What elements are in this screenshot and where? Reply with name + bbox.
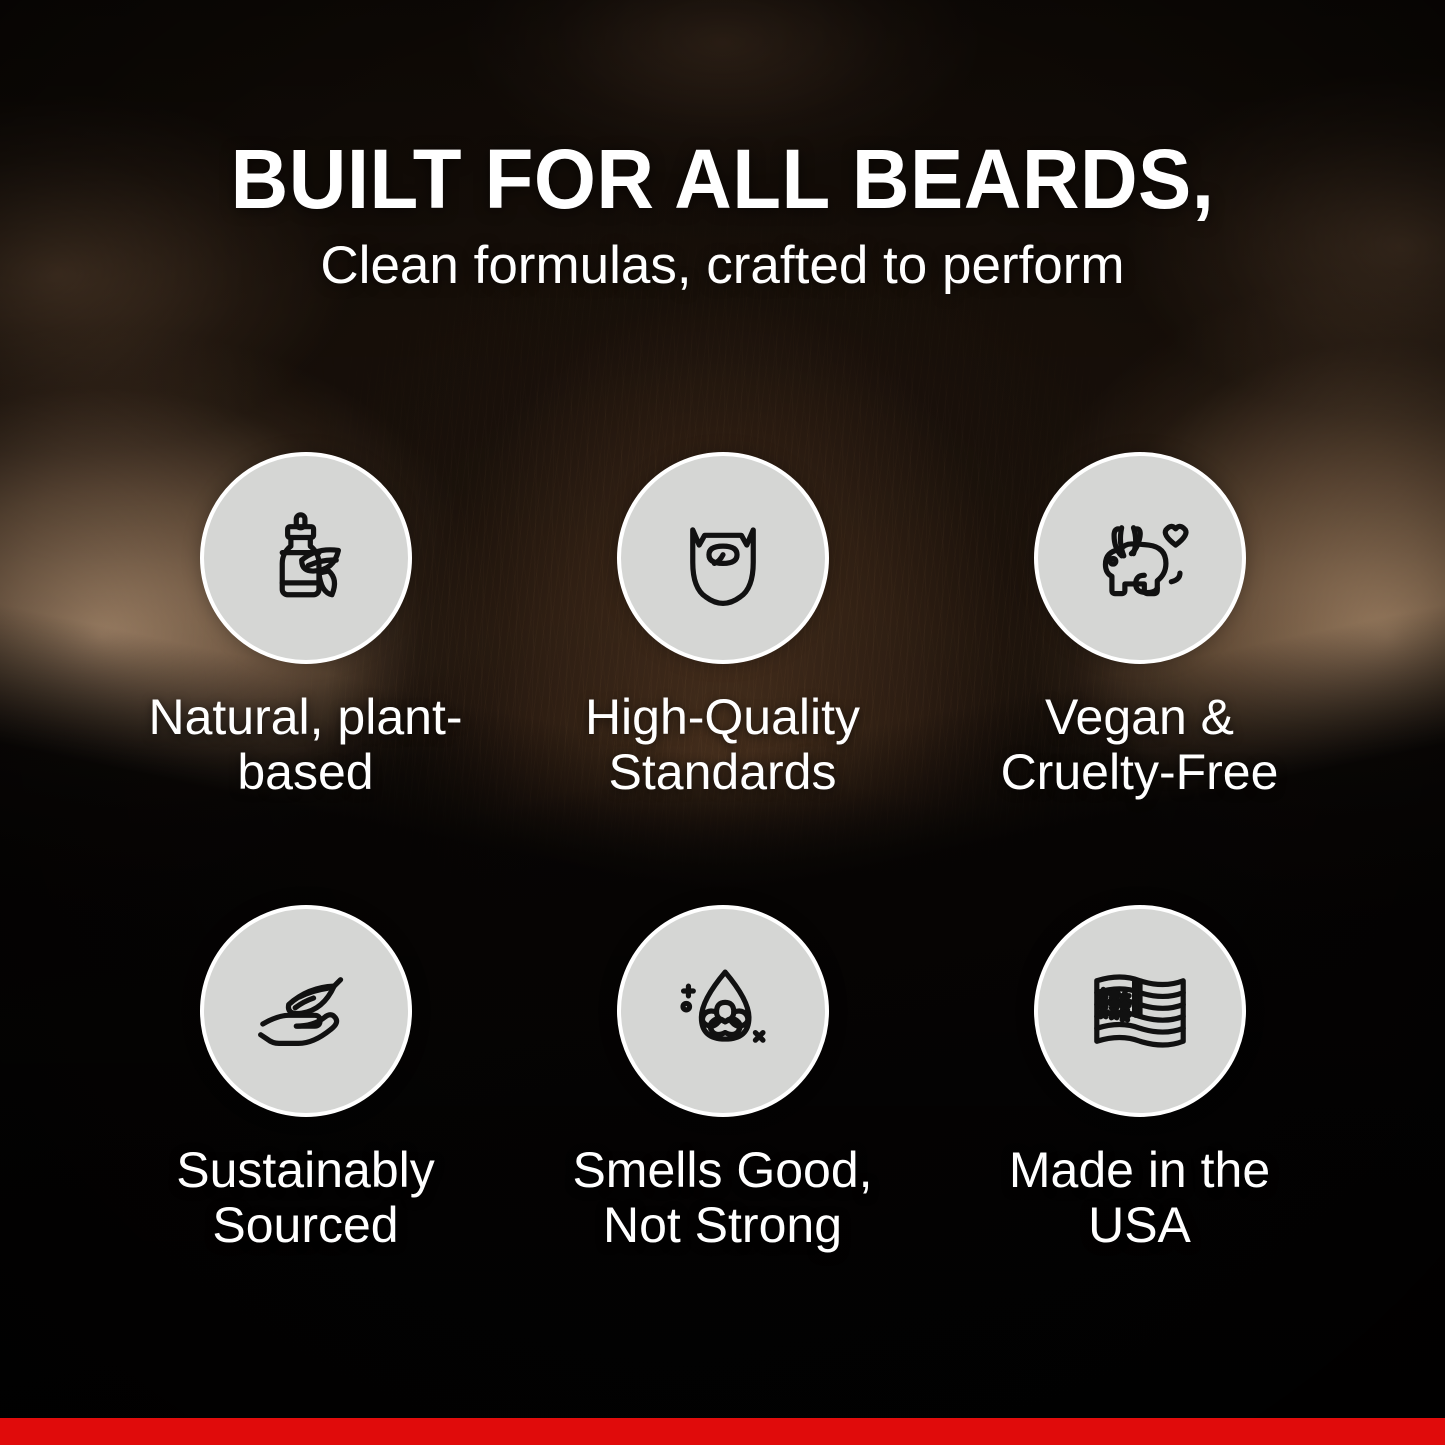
feature-item-high-quality-standards: High-Quality Standards [514, 452, 931, 800]
feature-item-sustainably-sourced: Sustainably Sourced [97, 905, 514, 1253]
feature-item-smells-good-not-strong: Smells Good, Not Strong [514, 905, 931, 1253]
feature-badge [1034, 905, 1246, 1117]
feature-item-natural-plant-based: Natural, plant-based [97, 452, 514, 800]
droplet-flower-sparkle-icon [669, 957, 777, 1065]
feature-badge [617, 905, 829, 1117]
feature-badge [1034, 452, 1246, 664]
hand-holding-leaf-icon [252, 957, 360, 1065]
dropper-bottle-leaf-icon [252, 504, 360, 612]
feature-label: Vegan & Cruelty-Free [975, 690, 1305, 800]
feature-label: Natural, plant-based [141, 690, 471, 800]
promo-infographic: BUILT FOR ALL BEARDS, Clean formulas, cr… [0, 0, 1445, 1445]
feature-item-vegan-cruelty-free: Vegan & Cruelty-Free [931, 452, 1348, 800]
feature-item-made-in-the-usa: Made in the USA [931, 905, 1348, 1253]
feature-label: Sustainably Sourced [141, 1143, 471, 1253]
feature-label: Smells Good, Not Strong [558, 1143, 888, 1253]
usa-flag-icon [1086, 957, 1194, 1065]
rabbit-heart-icon [1086, 504, 1194, 612]
feature-badge [617, 452, 829, 664]
feature-badge [200, 452, 412, 664]
feature-label: Made in the USA [975, 1143, 1305, 1253]
bottom-accent-bar [0, 1418, 1445, 1445]
page-subtitle: Clean formulas, crafted to perform [0, 238, 1445, 294]
beard-icon [669, 504, 777, 612]
feature-label: High-Quality Standards [558, 690, 888, 800]
feature-grid: Natural, plant-based High-Quality Standa… [97, 452, 1348, 1253]
page-title: BUILT FOR ALL BEARDS, [36, 138, 1409, 220]
feature-badge [200, 905, 412, 1117]
headline-block: BUILT FOR ALL BEARDS, Clean formulas, cr… [0, 138, 1445, 294]
